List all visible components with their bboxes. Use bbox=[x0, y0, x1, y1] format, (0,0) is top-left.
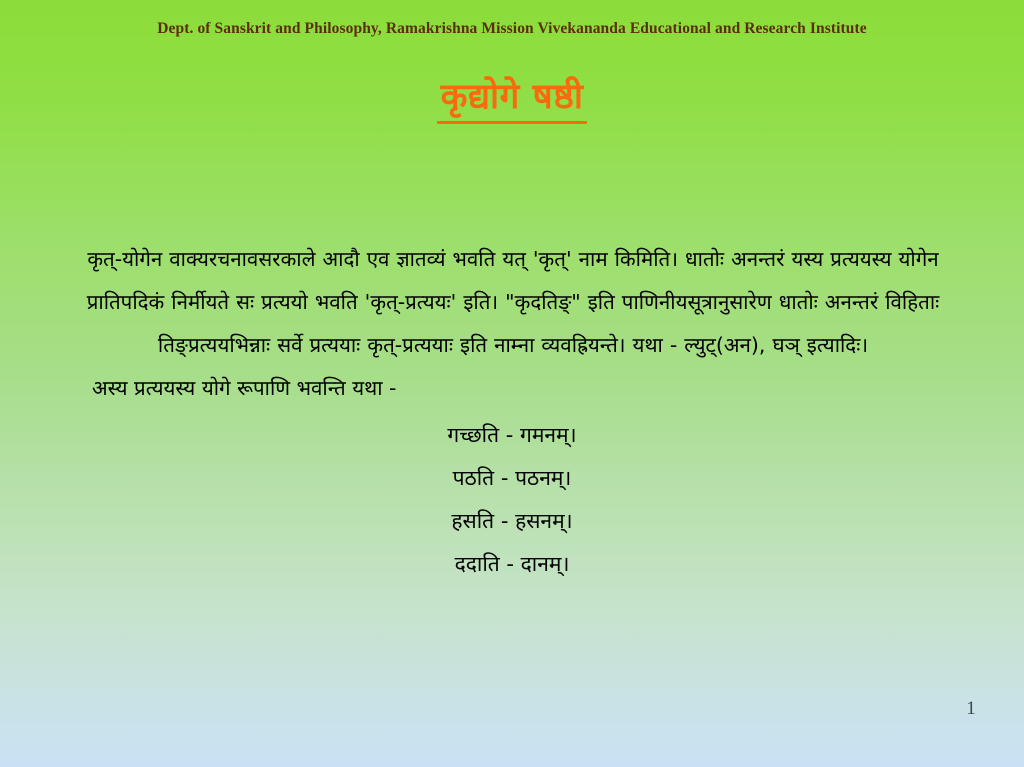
list-item: गच्छति - गमनम्। bbox=[0, 414, 1024, 457]
list-item: ददाति - दानम्। bbox=[0, 543, 1024, 586]
list-item: पठति - पठनम्। bbox=[0, 457, 1024, 500]
page-number: 1 bbox=[956, 698, 986, 720]
body-intro-line: अस्य प्रत्ययस्य योगे रूपाणि भवन्ति यथा - bbox=[60, 367, 966, 410]
slide-header-institution: Dept. of Sanskrit and Philosophy, Ramakr… bbox=[0, 20, 1024, 38]
slide-body-text: कृत्-योगेन वाक्यरचनावसरकाले आदौ एव ज्ञात… bbox=[60, 238, 966, 410]
page-title: कृद्योगे षष्ठी bbox=[437, 75, 588, 124]
body-paragraph-line-3: तिङ्प्रत्ययभिन्नाः सर्वे प्रत्ययाः कृत्-… bbox=[60, 324, 966, 367]
presentation-slide: Dept. of Sanskrit and Philosophy, Ramakr… bbox=[0, 0, 1024, 767]
example-list: गच्छति - गमनम्। पठति - पठनम्। हसति - हसन… bbox=[0, 414, 1024, 586]
list-item: हसति - हसनम्। bbox=[0, 500, 1024, 543]
slide-title-container: कृद्योगे षष्ठी bbox=[0, 75, 1024, 124]
body-paragraph-line-1: कृत्-योगेन वाक्यरचनावसरकाले आदौ एव ज्ञात… bbox=[60, 238, 966, 281]
body-paragraph-line-2: प्रातिपदिकं निर्मीयते सः प्रत्ययो भवति '… bbox=[60, 281, 966, 324]
